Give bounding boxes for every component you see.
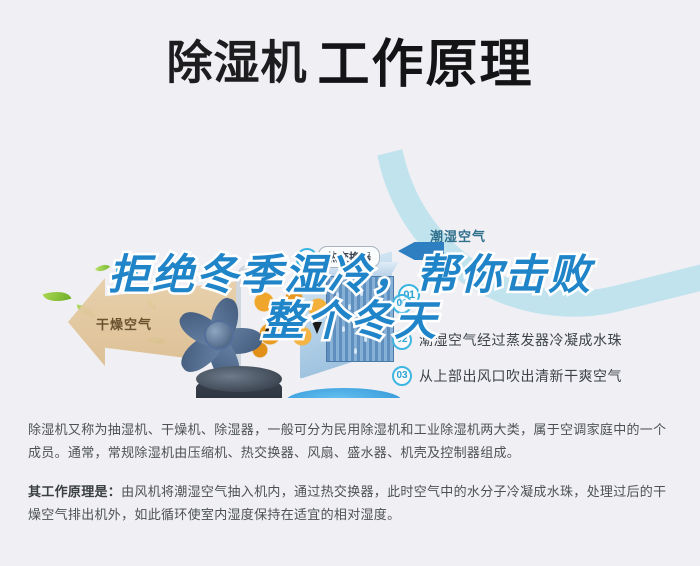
title-part-principle: 工作原理	[317, 36, 533, 94]
infographic-page: 除湿机工作原理 干燥空气 03 潮湿空气 01 热交换器 02	[0, 0, 700, 566]
step-item-03: 03 从上部出风口吹出清新干爽空气	[392, 366, 692, 386]
badge-02-heat-exchanger: 02	[296, 248, 318, 270]
page-title: 除湿机工作原理	[0, 22, 700, 97]
description-paragraph-1: 除湿机又称为抽湿机、干燥机、除湿器，一般可分为民用除湿机和工业除湿机两大类，属于…	[28, 418, 672, 464]
description-copy: 除湿机又称为抽湿机、干燥机、除湿器，一般可分为民用除湿机和工业除湿机两大类，属于…	[28, 418, 672, 526]
step-item-02: 02 潮湿空气经过蒸发器冷凝成水珠	[392, 330, 692, 350]
flow-arrow-right-icon	[286, 304, 298, 314]
compressor-top	[196, 366, 282, 392]
principle-diagram: 干燥空气 03 潮湿空气 01 热交换器 02	[0, 108, 700, 398]
condensation-droplets	[330, 284, 390, 360]
step-list: 01 02 潮湿空气经过蒸发器冷凝成水珠 03 从上部出风口吹出清新干爽空气	[392, 294, 692, 398]
step-badge-01: 01	[392, 294, 412, 314]
step-badge-02: 02	[392, 330, 412, 350]
title-part-product: 除湿机	[166, 37, 307, 89]
step-text-03: 从上部出风口吹出清新干爽空气	[419, 366, 622, 386]
fan-hub	[204, 320, 234, 350]
step-text-02: 潮湿空气经过蒸发器冷凝成水珠	[419, 330, 622, 350]
flow-arrow-down-icon	[312, 322, 322, 334]
description-paragraph-2-lead: 其工作原理是：	[28, 484, 121, 499]
heat-exchanger-callout: 热交换器	[318, 246, 380, 268]
step-item-01: 01	[392, 294, 692, 314]
water-tank-top	[286, 388, 402, 398]
description-paragraph-2-rest: 由风机将潮湿空气抽入机内，通过热交换器，此时空气中的水分子冷凝成水珠，处理过后的…	[28, 484, 666, 522]
dry-air-label: 干燥空气	[96, 314, 152, 333]
step-badge-03: 03	[392, 366, 412, 386]
intake-arrow-icon	[398, 242, 444, 260]
leaf-icon	[95, 261, 110, 275]
leaf-icon	[43, 286, 72, 306]
description-paragraph-2: 其工作原理是：由风机将潮湿空气抽入机内，通过热交换器，此时空气中的水分子冷凝成水…	[28, 480, 672, 526]
badge-03-dry-air: 03	[116, 260, 138, 282]
